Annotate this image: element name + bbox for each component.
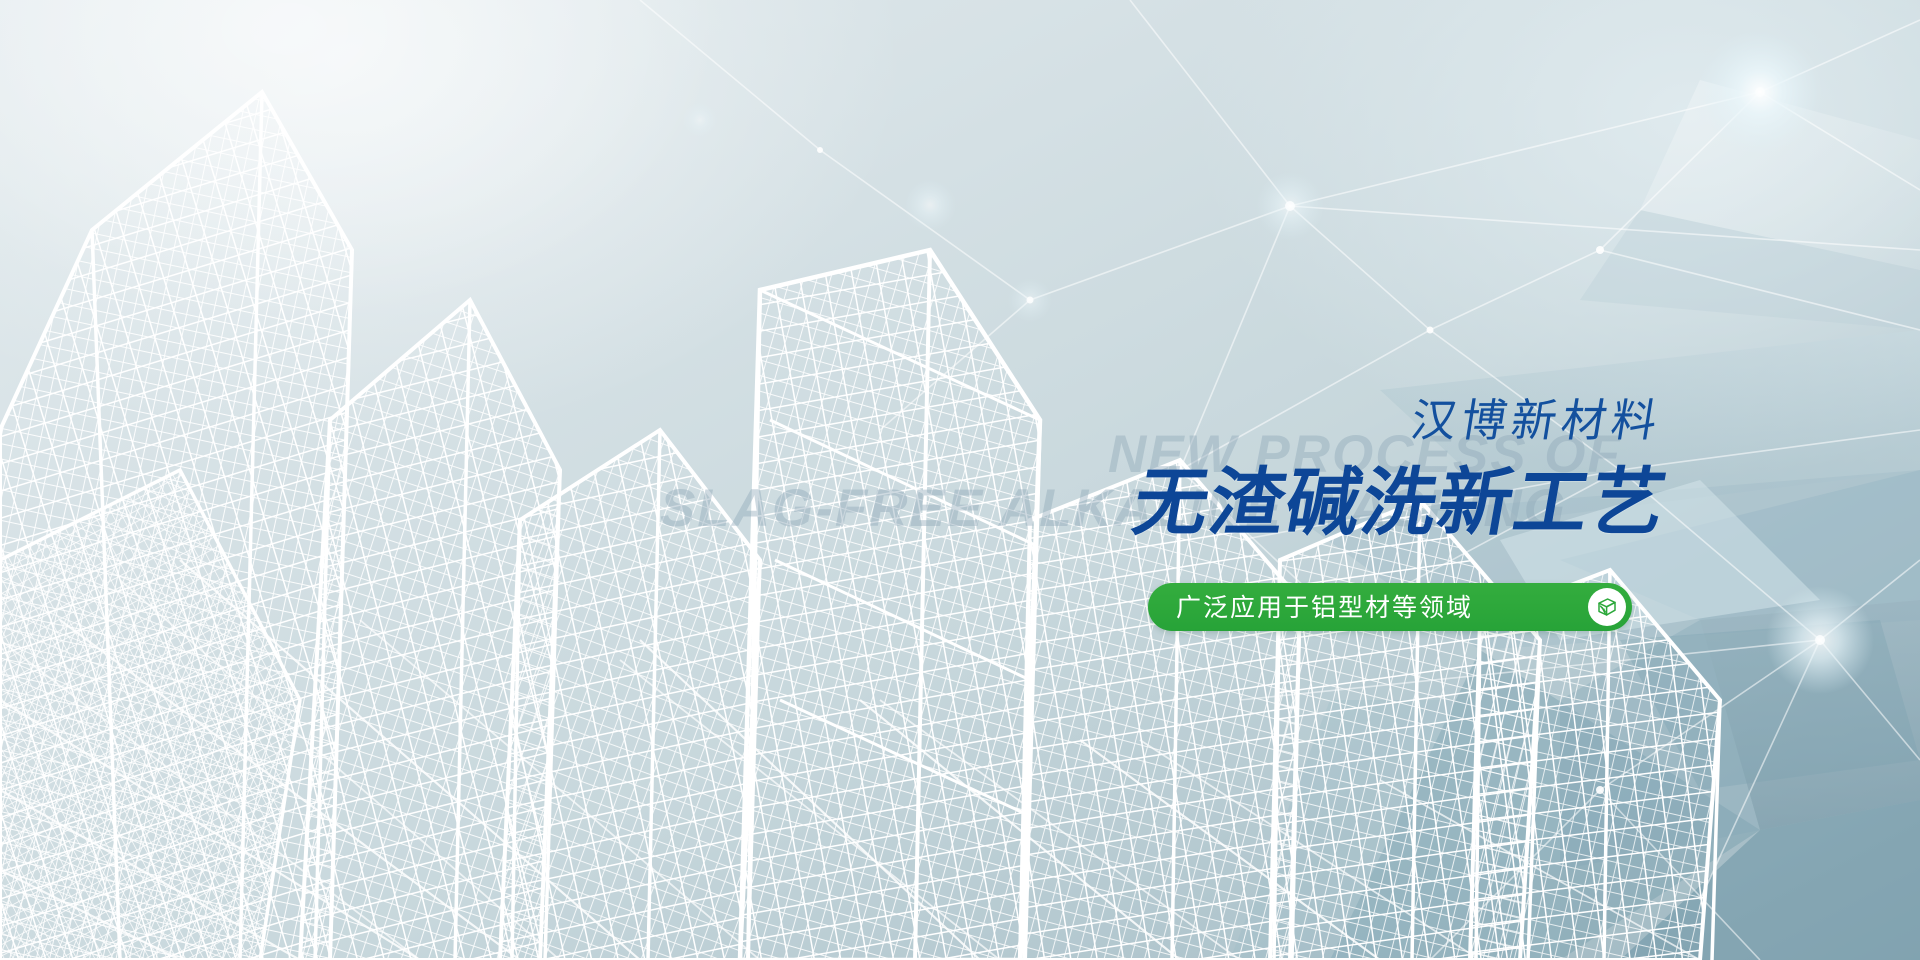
glow-overlay (0, 0, 1920, 960)
aluminium-profile-cube-icon (1588, 588, 1626, 626)
application-badge[interactable]: 广泛应用于铝型材等领域 (1148, 583, 1632, 631)
application-badge-label: 广泛应用于铝型材等领域 (1176, 595, 1473, 620)
hero-banner: NEW PROCESS OF SLAG-FREE ALKALINE WASHIN… (0, 0, 1920, 960)
